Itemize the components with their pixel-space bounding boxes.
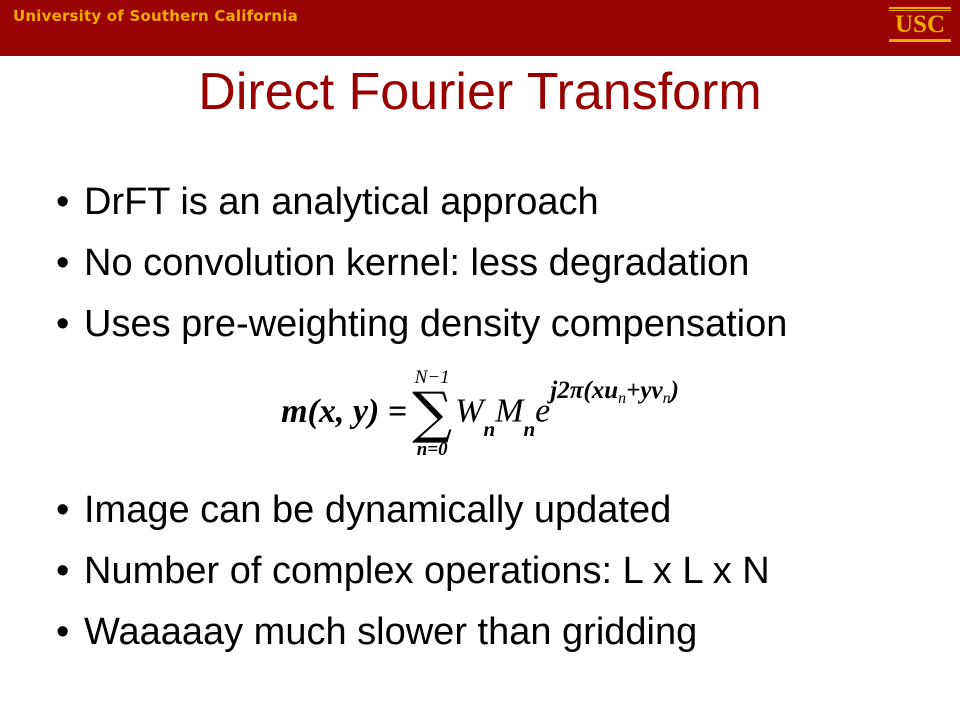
bullet-marker-icon: • <box>50 544 84 598</box>
exponent-term-xu-subscript: n <box>618 390 626 407</box>
usc-logo-wordmark: USC <box>889 11 951 38</box>
exponent-prefix: j2 <box>550 377 569 404</box>
bullet-item: • Uses pre-weighting density compensatio… <box>50 297 930 358</box>
exponent-term-yv-subscript: n <box>663 390 671 407</box>
bullet-item: • DrFT is an analytical approach <box>50 175 930 236</box>
term-weight-subscript: n <box>483 417 495 441</box>
exponent-plus-sign: + <box>626 377 640 404</box>
usc-logo-rule-bottom-thick <box>889 40 951 42</box>
bullet-marker-icon: • <box>50 236 84 290</box>
bullet-item: • Number of complex operations: L x L x … <box>50 544 930 605</box>
term-weight: W <box>455 393 483 430</box>
equation-rhs: WnMnej2π(xun+yvn) <box>454 388 679 435</box>
bullet-item: • Image can be dynamically updated <box>50 483 930 544</box>
summation-lower-limit: n=0 <box>417 440 448 460</box>
equation-lhs: m(x, y) = <box>281 393 410 431</box>
bullet-text: No convolution kernel: less degradation <box>84 236 930 290</box>
exponent-term-xu: xu <box>592 377 618 404</box>
university-name: University of Southern California <box>13 7 298 25</box>
term-exponential-base: e <box>535 393 550 430</box>
bullet-list-lower: • Image can be dynamically updated • Num… <box>50 483 930 666</box>
bullet-marker-icon: • <box>50 297 84 351</box>
slide-canvas: University of Southern California USC Di… <box>0 0 960 720</box>
exponent-group: j2π(xun+yvn) <box>550 377 679 404</box>
pi-icon: π <box>570 377 584 404</box>
slide-title: Direct Fourier Transform <box>0 62 960 122</box>
summation-operator: N−1 ∑ n=0 <box>412 368 452 460</box>
bullet-text: DrFT is an analytical approach <box>84 175 930 229</box>
exponent-term-yv: yv <box>640 377 662 404</box>
equation: m(x, y) = N−1 ∑ n=0 WnMnej2π(xun+yvn) <box>281 366 679 458</box>
bullet-text: Uses pre-weighting density compensation <box>84 297 930 351</box>
header-band: University of Southern California USC <box>0 0 960 56</box>
bullet-text: Image can be dynamically updated <box>84 483 930 537</box>
term-measurement: M <box>495 393 523 430</box>
bullet-marker-icon: • <box>50 175 84 229</box>
bullet-item: • Waaaaay much slower than gridding <box>50 605 930 666</box>
bullet-text: Number of complex operations: L x L x N <box>84 544 930 598</box>
exponent-open-paren: ( <box>583 377 591 404</box>
bullet-item: • No convolution kernel: less degradatio… <box>50 236 930 297</box>
bullet-marker-icon: • <box>50 605 84 659</box>
usc-logo-rule-top-thick <box>889 7 951 9</box>
bullet-list-upper: • DrFT is an analytical approach • No co… <box>50 175 930 358</box>
exponent-close-paren: ) <box>671 377 679 404</box>
sigma-icon: ∑ <box>412 388 452 440</box>
bullet-marker-icon: • <box>50 483 84 537</box>
usc-logo: USC <box>889 7 951 48</box>
equation-block: m(x, y) = N−1 ∑ n=0 WnMnej2π(xun+yvn) <box>0 366 960 458</box>
bullet-text: Waaaaay much slower than gridding <box>84 605 930 659</box>
term-measurement-subscript: n <box>523 417 535 441</box>
